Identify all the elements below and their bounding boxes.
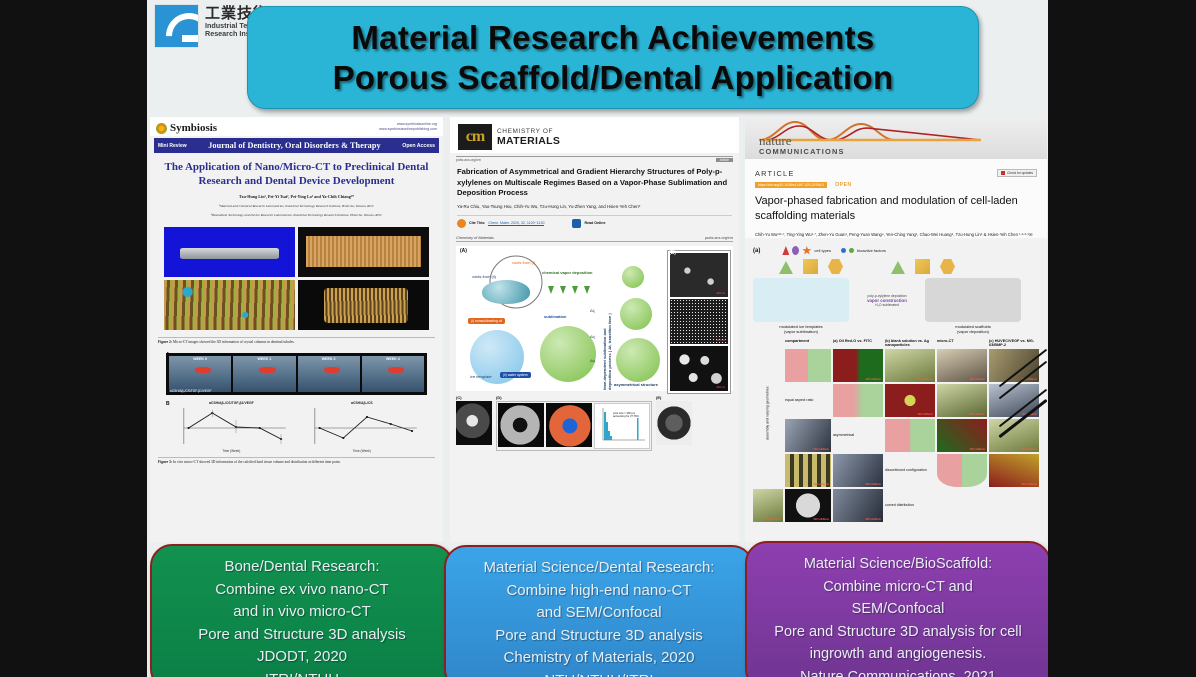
chart-1-title: αCSH/Aβ₂/CS xyxy=(303,401,422,405)
week-label-0: WEEK 0 xyxy=(169,357,231,361)
matrix-r1-microct-1: 400 \u03bcm xyxy=(937,349,987,382)
communications-wordmark: COMMUNICATIONS xyxy=(759,147,845,156)
cap-blue-line-5: Chemistry of Materials, 2020 xyxy=(504,647,695,670)
figure-microct-colormap xyxy=(164,280,295,330)
product-medium xyxy=(620,298,652,330)
cite-this-label: Cite This: xyxy=(469,221,485,225)
paper-panel-jdodt: Symbiosis www.symbiosisonline.org www.sy… xyxy=(150,117,443,542)
week-label-1: WEEK 1 xyxy=(233,357,295,361)
ice-templates-caption: modulated ice templates (vapor sublimati… xyxy=(753,324,849,335)
week-label-2: WEEK 2 xyxy=(298,357,360,361)
natcomm-shapes-row xyxy=(779,259,1039,274)
figure-label-e: (E) xyxy=(656,395,692,400)
legend-cell-types: cell types xyxy=(782,246,831,255)
nature-comms-header: nature COMMUNICATIONS xyxy=(745,117,1047,159)
label-delta-t2: Δt₂ xyxy=(590,334,595,339)
week-group-tag: αCSH/Aβ₂/CS/TGF-β1/VEGF xyxy=(170,389,211,393)
journal-bar-left: Mini Review xyxy=(158,143,187,149)
read-online-icon xyxy=(572,219,581,228)
vapor-construction-group: poly-p-xylylene deposition vapor constru… xyxy=(855,294,919,307)
tag-nonsublimating-oil: (i) nonsublimating oil xyxy=(468,318,505,324)
matrix-col-b2-head: micro-CT xyxy=(937,339,987,347)
chemmater-runner-top: pubs.acs.org/cm Article xyxy=(456,156,733,162)
figure-d-histogram: pore size = 300 μm accounting for 37.76% xyxy=(594,403,650,449)
chart-series-1: αCSH/Aβ₂/CS Time (Week) xyxy=(303,401,422,453)
label-voids-i: voids from (i) xyxy=(512,260,535,265)
figure-c-group: (C) xyxy=(456,395,492,445)
cap-purple-line-1: Material Science/BioScaffold: xyxy=(804,553,992,576)
chemmater-authors: Ya-Ru Chiu, Yao-Tsung Hsu, Chih-Yu Wu, T… xyxy=(457,204,732,210)
ice-templates-caption-2: (vapor sublimation) xyxy=(753,329,849,334)
cm-mark-text: cm xyxy=(466,128,484,146)
jdodt-charts: αCSH/Aβ₂/CS/TGF-β1/VEGF Tim xyxy=(172,401,421,453)
chemmater-figure-a: (A) voids from (ii) voids from (i) chemi… xyxy=(456,246,733,391)
natcomm-doi-row: https://doi.org/10.1038/s41467-020-20766… xyxy=(755,182,1037,188)
matrix-r1-microct-2: 700 \u03bcm xyxy=(989,349,1039,382)
shape-tetrahedron-2 xyxy=(891,261,905,274)
figure-ct-treated-area xyxy=(164,227,295,277)
week-image-3: WEEK 4 xyxy=(362,356,424,392)
jdodt-title: The Application of Nano/Micro-CT to Prec… xyxy=(160,160,433,188)
week-label-3: WEEK 4 xyxy=(362,357,424,361)
chart-0-title: αCSH/Aβ₂/CS/TGF-β1/VEGF xyxy=(172,401,291,405)
journal-bar-title: Journal of Dentistry, Oral Disorders & T… xyxy=(208,141,381,150)
chemmater-title: Fabrication of Asymmetrical and Gradient… xyxy=(457,167,732,199)
cap-purple-line-3: SEM/Confocal xyxy=(852,598,945,621)
cap-blue-line-6: NTU/NTUH/ITRI xyxy=(544,670,653,677)
cite-icon xyxy=(457,219,466,228)
matrix-row-3-label: discontinued configuration xyxy=(885,454,935,487)
week-image-1: WEEK 1 xyxy=(233,356,295,392)
cap-blue-line-4: Pore and Structure 3D analysis xyxy=(495,625,703,648)
cap-green-line-6: ITRI/NTUH xyxy=(265,669,339,677)
figure3-label: Figure 3: xyxy=(158,460,172,464)
cap-blue-line-3: and SEM/Confocal xyxy=(536,602,661,625)
natcomm-result-matrix: assembly and varying geometries compartm… xyxy=(753,339,1039,522)
jdodt-affiliation-2: ²Biomedical Technology and Device Resear… xyxy=(164,213,429,218)
open-access-label: OPEN xyxy=(835,182,852,188)
figure-label-d: (D) xyxy=(496,395,652,400)
cap-blue-line-1: Material Science/Dental Research: xyxy=(484,557,715,580)
label-sublimation: sublimation xyxy=(544,314,566,319)
figure-label-c: (C) xyxy=(456,395,492,400)
chemmater-article-tag: Article xyxy=(716,158,733,162)
label-asymmetrical: asymmetrical structure xyxy=(614,382,658,387)
modulated-scaffolds-image xyxy=(925,278,1021,322)
scaffolds-caption: modulated scaffolds (vapor deposition) xyxy=(925,324,1021,335)
matrix-row-2-label: asymmetrical xyxy=(833,419,883,452)
matrix-r1-compartment xyxy=(785,349,831,382)
sem-image-1: 200 nm xyxy=(670,253,728,298)
sem-image-2: 200 nm xyxy=(670,299,728,344)
jdodt-figure2-caption: Figure 2: Micro-CT images showed the 3D … xyxy=(158,337,435,345)
matrix-row-1-label: equal aspect ratio xyxy=(785,384,831,417)
caption-box-material-science-dental[interactable]: Material Science/Dental Research: Combin… xyxy=(444,545,754,677)
chemmater-runner-bottom: Chemistry of Materials pubs.acs.org/cm xyxy=(456,236,733,242)
cell-type-icon-3 xyxy=(802,246,811,255)
title-line-1: Material Research Achievements xyxy=(351,18,874,58)
chart-0-svg xyxy=(172,406,291,448)
cap-green-line-4: Pore and Structure 3D analysis xyxy=(198,624,406,647)
figure-d-pore-note: pore size = 300 μm accounting for 37.76% xyxy=(613,412,647,419)
jdodt-figure3-caption: Figure 3: In vivo micro-CT showed 3D inf… xyxy=(158,457,435,465)
matrix-compartment-head: compartment xyxy=(785,339,831,347)
teal-droplet xyxy=(482,280,530,304)
symbiosis-logo: Symbiosis xyxy=(156,122,217,134)
matrix-r1-3dprofile: 300 \u03bcm xyxy=(885,349,935,382)
week-image-2: WEEK 2 xyxy=(298,356,360,392)
title-banner: Material Research Achievements Porous Sc… xyxy=(247,6,979,109)
runner-left: Chemistry of Materials xyxy=(456,236,494,240)
caption-box-material-science-bioscaffold[interactable]: Material Science/BioScaffold: Combine mi… xyxy=(745,541,1048,677)
matrix-r2-microct-2: 500 \u03bcm xyxy=(785,419,831,452)
sem-image-3: 200 nm xyxy=(670,346,728,391)
cap-green-line-3: and in vivo micro-CT xyxy=(233,601,371,624)
sem-image-column: (B) 200 nm 200 nm 200 nm xyxy=(667,250,731,394)
update-dot-icon xyxy=(1001,171,1005,175)
factor-icon-1 xyxy=(841,248,846,253)
figure-label-a: (A) xyxy=(460,248,467,254)
paper-panel-chemmater: cm CHEMISTRY OF MATERIALS pubs.acs.org/c… xyxy=(450,117,739,542)
cite-this-chip[interactable]: Cite This: Chem. Mater. 2020, 32, 1120−1… xyxy=(457,219,544,228)
shape-tetrahedron xyxy=(779,261,793,274)
matrix-col-a-head: (a) Oil Red-O vs. FITC xyxy=(833,339,883,347)
paper-panel-natcomm: nature COMMUNICATIONS ARTICLE Check for … xyxy=(745,117,1047,542)
matrix-r3-microscopy: 100 \u03bcm xyxy=(937,419,987,452)
cap-purple-line-2: Combine micro-CT and xyxy=(823,576,973,599)
factor-icon-2 xyxy=(849,248,854,253)
natcomm-title: Vapor-phased fabrication and modulation … xyxy=(755,194,1037,224)
cap-green-line-1: Bone/Dental Research: xyxy=(224,556,379,579)
journal-bar-open-access: Open Access xyxy=(402,143,435,149)
natcomm-process-row: poly-p-xylylene deposition vapor constru… xyxy=(753,278,1039,322)
figure-d-image-1 xyxy=(498,403,544,447)
label-cvd: chemical vapor deposition xyxy=(542,270,592,275)
check-for-updates-badge[interactable]: Check for updates xyxy=(997,169,1037,177)
presentation-slide: 工業技術 Industrial Technology Research Inst… xyxy=(147,0,1048,677)
figure2-text: Micro-CT images showed the 3D informatio… xyxy=(173,340,295,344)
cap-green-line-2: Combine ex vivo nano-CT xyxy=(215,579,388,602)
cap-purple-line-6: Nature Communications, 2021 xyxy=(800,666,996,677)
figure-e-image xyxy=(656,401,692,445)
matrix-r4-microscopy: 250 \u03bcm xyxy=(989,454,1039,487)
scaffolds-caption-2: (vapor deposition) xyxy=(925,329,1021,334)
itri-logo-mark xyxy=(154,4,199,48)
cap-purple-line-4: Pore and Structure 3D analysis for cell xyxy=(774,621,1021,644)
product-small xyxy=(622,266,644,288)
symbiosis-header: Symbiosis www.symbiosisonline.org www.sy… xyxy=(150,117,443,136)
chart-1-svg xyxy=(303,406,422,448)
shape-hexagon-2 xyxy=(940,259,955,274)
chart-series-0: αCSH/Aβ₂/CS/TGF-β1/VEGF Tim xyxy=(172,401,291,453)
read-online-chip[interactable]: Read Online xyxy=(572,219,605,228)
figure-crystalline-column xyxy=(298,280,429,330)
natcomm-figure-label-a: (a) xyxy=(753,248,760,254)
doi-chip[interactable]: https://doi.org/10.1038/s41467-020-20766… xyxy=(755,182,827,188)
flower-icon xyxy=(156,123,167,134)
matrix-row-4-label: curved distribution xyxy=(885,489,935,522)
matrix-r2-microscopy: 100 \u03bcm xyxy=(885,384,935,417)
jdodt-figure2 xyxy=(164,227,429,330)
matrix-r4-compartment xyxy=(937,454,987,487)
jdodt-authors: Tzu-Hung Lin¹, Pei-Yi Tsai², Pei-Ying Lo… xyxy=(166,194,427,200)
matrix-axis-label: assembly and varying geometries xyxy=(753,339,783,487)
cell-type-icon xyxy=(782,246,789,255)
title-line-2: Porous Scaffold/Dental Application xyxy=(333,58,894,98)
figure2-label: Figure 2: xyxy=(158,340,172,344)
chemmater-url: pubs.acs.org/cm xyxy=(456,158,481,162)
chart-1-xlabel: Time (Week) xyxy=(303,449,422,453)
natcomm-body: ARTICLE Check for updates https://doi.or… xyxy=(745,159,1047,238)
legend-bioactive-label: bioactive factors xyxy=(857,248,886,253)
panel-letter-b: B xyxy=(166,401,170,407)
symbiosis-urls: www.symbiosisonline.org www.symbiosisonl… xyxy=(379,122,437,132)
shape-cube-2 xyxy=(915,259,930,274)
cap-blue-line-2: Combine high-end nano-CT xyxy=(506,580,691,603)
journal-bar: Mini Review Journal of Dentistry, Oral D… xyxy=(154,138,439,153)
shape-cube xyxy=(803,259,818,274)
screenshot-root: 工業技術 Industrial Technology Research Inst… xyxy=(0,0,1196,677)
shape-hexagon xyxy=(828,259,843,274)
matrix-r3-compartment xyxy=(885,419,935,452)
matrix-col-b-head: (b) blank solution vs. Ag nanoparticles xyxy=(885,339,935,347)
modulated-ice-templates-image xyxy=(753,278,849,322)
symbiosis-name: Symbiosis xyxy=(170,122,217,134)
read-online-label: Read Online xyxy=(584,221,605,225)
chemmater-wordmark: CHEMISTRY OF MATERIALS xyxy=(497,128,560,147)
matrix-r3-microct-2: 500 \u03bcm xyxy=(833,454,883,487)
legend-cell-types-label: cell types xyxy=(814,248,831,253)
label-delta-t3: Δt₃ xyxy=(590,358,595,363)
tag-water-system: (ii) water system xyxy=(500,372,531,378)
figure3-text: In vivo micro-CT showed 3D information o… xyxy=(173,460,341,464)
chemmater-word-2: MATERIALS xyxy=(497,136,560,147)
chemmater-figure-cde: (C) (D) xyxy=(456,395,733,451)
cite-this-value: Chem. Mater. 2020, 32, 1120−1130 xyxy=(488,221,544,226)
jdodt-week-row: WEEK 0 WEEK 1 WEEK 2 WEEK 4 αCSH/Aβ₂/CS/… xyxy=(166,353,427,395)
natcomm-legend: cell types bioactive factors xyxy=(782,246,886,255)
matrix-r3-microct-1: 500 \u03bcm xyxy=(785,454,831,487)
label-time-axis: time-dependent sublimation and depositio… xyxy=(602,310,612,390)
figure-d-image-2 xyxy=(546,403,592,447)
matrix-r2-compartment xyxy=(833,384,883,417)
sublimation-bubble xyxy=(540,326,596,382)
figure-crystal-dentinal-tubules xyxy=(298,227,429,277)
natcomm-article-row: ARTICLE Check for updates xyxy=(755,169,1037,178)
natcomm-authors: Chih-Yu Wu¹²³·⁷, Ting-Ying Wu¹·⁷, Zhen-Y… xyxy=(755,231,1037,238)
matrix-r4-3dprofile: 300 \u03bcm xyxy=(753,489,783,522)
symbiosis-url-2: www.symbiosisonlinepublishing.com xyxy=(379,127,437,132)
product-large xyxy=(616,338,660,382)
cap-green-line-5: JDODT, 2020 xyxy=(257,646,347,669)
matrix-col-c-head: (c) HUVEC/VEGF vs. MG-63/BMP-2 xyxy=(989,339,1039,347)
figure-d-group: (D) xyxy=(496,395,652,451)
chemmater-header: cm CHEMISTRY OF MATERIALS xyxy=(450,117,739,153)
runner-right: pubs.acs.org/cm xyxy=(705,236,733,240)
matrix-r1-microscopy: 100 \u03bcm xyxy=(833,349,883,382)
label-ice-template: ice template xyxy=(470,374,492,379)
cap-purple-line-5: ingrowth and angiogenesis. xyxy=(810,643,987,666)
jdodt-affiliation-1: ¹Material and Chemical Research Laborato… xyxy=(164,204,429,209)
natcomm-figure-a: (a) cell types bioactive xyxy=(753,246,1039,335)
week-image-0: WEEK 0 xyxy=(169,356,231,392)
chart-0-xlabel: Time (Week) xyxy=(172,449,291,453)
chemmater-links: Cite This: Chem. Mater. 2020, 32, 1120−1… xyxy=(457,215,732,228)
label-delta-t1: Δt₁ xyxy=(590,308,595,313)
natcomm-article-tag: ARTICLE xyxy=(755,169,794,178)
check-for-updates-label: Check for updates xyxy=(1007,171,1033,175)
label-voids-ii: voids from (ii) xyxy=(472,274,496,279)
matrix-r2-3dprofile: 300 \u03bcm xyxy=(937,384,987,417)
cell-type-icon-2 xyxy=(792,246,799,255)
figure-e-group: (E) xyxy=(656,395,692,445)
matrix-r4-microct-2: 300 \u03bcm xyxy=(833,489,883,522)
matrix-r4-microct-1: 500 \u03bcm xyxy=(785,489,831,522)
legend-bioactive-factors: bioactive factors xyxy=(841,248,886,253)
caption-box-bone-dental-research[interactable]: Bone/Dental Research: Combine ex vivo na… xyxy=(150,544,454,677)
chemistry-materials-logo: cm xyxy=(458,124,492,150)
figure-c-image xyxy=(456,401,492,445)
figure-label-b: (B) xyxy=(669,250,676,256)
nature-wordmark: nature xyxy=(759,134,791,148)
h2o-sublimated-label: H₂O sublimated xyxy=(855,303,919,307)
natcomm-process-captions: modulated ice templates (vapor sublimati… xyxy=(753,324,1039,335)
